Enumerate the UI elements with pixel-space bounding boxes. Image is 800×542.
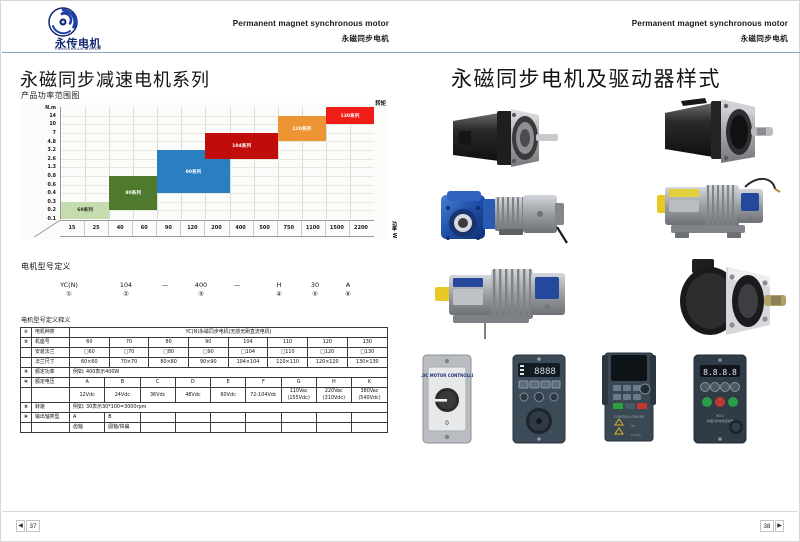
left-page-number[interactable]: 37 (26, 520, 40, 532)
model-code-index: ④ (261, 290, 297, 298)
spec-empty-cell (211, 423, 246, 433)
x-axis-separator (253, 221, 254, 236)
chart-caption: 产品功率范围图 (21, 90, 80, 101)
spec-voltage-code: H (316, 378, 351, 388)
y-axis-tick-label: 1.3 (48, 165, 57, 170)
spec-frame-value: 80 (149, 338, 189, 348)
spec-label: 输出轴类型 (32, 413, 70, 423)
spec-row-speed: ⑤转速例如: 30表示30*100=3000rpm (21, 403, 388, 413)
y-axis: N.m141074.83.22.61.30.80.60.40.30.20.1 (20, 107, 58, 219)
spec-flange-size-value: 80×80 (149, 358, 189, 368)
spec-voltage-code: B (105, 378, 140, 388)
spec-flange-value: □104 (228, 348, 268, 358)
y-axis-tick-label: 0.6 (48, 183, 57, 188)
y-axis-tick-label: 2.6 (48, 157, 57, 162)
page-footer: ◀ 37 38 ▶ (2, 511, 798, 541)
spec-index (21, 358, 32, 368)
chart-horizontal-gridline (61, 124, 374, 125)
spec-frame-value: 130 (347, 338, 387, 348)
x-axis-tick-label: 1100 (301, 225, 325, 231)
spec-voltage-code: D (175, 378, 210, 388)
spec-row-flange-size: 法兰尺寸60×6070×7080×8090×90104×104110×11012… (21, 358, 388, 368)
x-axis-tick-label: 1500 (325, 225, 349, 231)
spec-row-shaft-type: ⑥输出轴类型AB (21, 413, 388, 423)
y-axis-tick-label: 0.2 (48, 208, 57, 213)
x-axis-separator (349, 221, 350, 236)
chart-series-bar: 80系列 (109, 176, 157, 210)
spec-flange-size-value: 110×110 (268, 358, 308, 368)
x-axis-tick-label: 40 (108, 225, 132, 231)
spec-value: 例如: 400表示400W (70, 368, 388, 378)
right-page-content: 永磁同步电机及驱动器样式 (401, 53, 800, 513)
spec-empty-cell (175, 423, 210, 433)
spec-empty-cell (352, 423, 388, 433)
model-code-segment: — (147, 281, 183, 290)
company-logo: 永传电机 YONGCHUAN MOTOR (30, 7, 126, 51)
spec-label (32, 423, 70, 433)
spec-row-frame-no: ②机座号60708090104110120130 (21, 338, 388, 348)
spec-row-shaft-names: 齿轴圆轴/铁扁 (21, 423, 388, 433)
spec-frame-value: 90 (188, 338, 228, 348)
spec-flange-value: □60 (70, 348, 110, 358)
spec-flange-size-value: 90×90 (188, 358, 228, 368)
spec-voltage-value: 12Vdc (70, 388, 105, 403)
spec-value: YC(N)永磁同步电机(无感无刷直流电机) (70, 328, 388, 338)
x-axis-separator (156, 221, 157, 236)
black-round-flange-motor-photo (666, 253, 786, 341)
x-axis-tick-label: 90 (156, 225, 180, 231)
model-definition-title: 电机型号定义 (21, 261, 71, 272)
spec-voltage-code: K (352, 378, 388, 388)
spec-flange-value: □120 (307, 348, 347, 358)
swirl-logo-icon (48, 7, 78, 37)
header-chinese-title: 永磁同步电机 (342, 33, 389, 44)
spec-row-motor-type: ①电机种类YC(N)永磁同步电机(无感无刷直流电机) (21, 328, 388, 338)
spec-index: ① (21, 328, 32, 338)
spec-flange-size-value: 70×70 (109, 358, 149, 368)
logo-english-name: YONGCHUAN MOTOR (30, 47, 126, 51)
x-axis-separator (229, 221, 230, 236)
spec-label: 额定电压 (32, 378, 70, 388)
model-code-segment: A⑥ (330, 281, 366, 298)
svg-text:HD-S: HD-S (716, 414, 724, 418)
chart-horizontal-gridline (61, 193, 374, 194)
model-code-value: 30 (297, 281, 333, 289)
spec-flange-size-value: 104×104 (228, 358, 268, 368)
spec-empty-cell (140, 413, 175, 423)
model-code-value: H (261, 281, 297, 289)
y-axis-tick-label: 0.3 (48, 200, 57, 205)
prev-page-button[interactable]: ◀ (16, 520, 25, 532)
model-code-value: — (147, 281, 183, 289)
chart-plot-area: 60系列80系列90系列104系列120系列130系列 (60, 107, 374, 219)
y-axis-tick-label: 7 (53, 131, 56, 136)
left-pager[interactable]: ◀ 37 (16, 520, 40, 532)
model-code-value: — (219, 281, 255, 289)
model-code-index: ⑤ (297, 290, 333, 298)
left-page-header: 永传电机 YONGCHUAN MOTOR Permanent magnet sy… (2, 1, 401, 53)
model-code-segment: YC(N)① (51, 281, 87, 298)
spec-row-rated-voltage: ④额定电压ABCDEFGHK (21, 378, 388, 388)
spec-frame-value: 104 (228, 338, 268, 348)
spec-flange-value: □130 (347, 348, 387, 358)
spec-flange-value: □90 (188, 348, 228, 358)
model-code-segment: 30⑤ (297, 281, 333, 298)
svg-text:8.8.8.8: 8.8.8.8 (703, 368, 737, 377)
spec-label: 机座号 (32, 338, 70, 348)
y-axis-unit: N.m (45, 106, 56, 111)
spec-flange-value: □80 (149, 348, 189, 358)
right-page-header: Permanent magnet synchronous motor 永磁同步电… (401, 1, 800, 53)
spec-voltage-value: 24Vdc (105, 388, 140, 403)
spec-empty-cell (316, 413, 351, 423)
spec-value: 例如: 30表示30*100=3000rpm (70, 403, 388, 413)
page-title: 永磁同步减速电机系列 (20, 66, 210, 92)
spec-frame-value: 110 (268, 338, 308, 348)
spec-index: ③ (21, 368, 32, 378)
header-english-title-right: Permanent magnet synchronous motor (632, 19, 788, 28)
y-axis-tick-label: 4.8 (48, 140, 57, 145)
x-axis: 1525406090120200400500750110015002200 (60, 220, 374, 237)
model-code-segment: — (219, 281, 255, 290)
spec-index: ④ (21, 378, 32, 388)
model-code-row: YC(N)①104②—400③—H④30⑤A⑥ (21, 281, 381, 307)
svg-text:0: 0 (445, 420, 449, 427)
spec-row-rated-power: ③额定功率例如: 400表示400W (21, 368, 388, 378)
x-axis-tick-label: 750 (277, 225, 301, 231)
spec-flange-size-value: 120×120 (307, 358, 347, 368)
spec-label: 额定功率 (32, 368, 70, 378)
x-axis-tick-label: 2200 (349, 225, 373, 231)
x-axis-tick-label: 200 (204, 225, 228, 231)
y-axis-tick-label: 0.8 (48, 174, 57, 179)
spec-shaft-code: B (105, 413, 140, 423)
left-page-content: 永磁同步减速电机系列 产品功率范围图 转矩 N.m141074.83.22.61… (2, 53, 401, 513)
spec-empty-cell (281, 423, 316, 433)
x-axis-tick-label: 60 (132, 225, 156, 231)
model-code-segment: H④ (261, 281, 297, 298)
x-axis-separator (180, 221, 181, 236)
right-pager[interactable]: 38 ▶ (760, 520, 784, 532)
spec-empty-cell (352, 413, 388, 423)
x-axis-tick-label: 500 (253, 225, 277, 231)
x-axis-tick-label: 25 (84, 225, 108, 231)
model-code-segment: 400③ (183, 281, 219, 298)
spec-empty-cell (175, 413, 210, 423)
spec-empty-cell (281, 413, 316, 423)
model-code-index: ③ (183, 290, 219, 298)
spec-voltage-value: 60Vdc (211, 388, 246, 403)
svg-text:CONTROL DRIVER: CONTROL DRIVER (614, 415, 645, 419)
y-axis-tick-label: 0.4 (48, 191, 57, 196)
grey-foot-mount-gear-motor-photo (641, 175, 781, 255)
spec-label: 安装法兰 (32, 348, 70, 358)
spec-frame-value: 60 (70, 338, 110, 348)
spec-voltage-code: C (140, 378, 175, 388)
digital-speed-controller-photo[interactable]: 8888 (511, 353, 567, 445)
model-code-index: ① (51, 290, 87, 298)
spec-shaft-code: A (70, 413, 105, 423)
spec-voltage-value: 36Vdc (140, 388, 175, 403)
spec-voltage-value: 220Vac(310Vdc) (316, 388, 351, 403)
spec-label: 电机种类 (32, 328, 70, 338)
spec-voltage-value: 48Vdc (175, 388, 210, 403)
spec-empty-cell (316, 423, 351, 433)
svg-text:5.0min: 5.0min (631, 433, 642, 437)
spec-voltage-value: 110Vac(155Vdc) (281, 388, 316, 403)
chart-series-bar: 120系列 (278, 116, 326, 142)
svg-text:永磁同步电机驱动器: 永磁同步电机驱动器 (706, 418, 733, 423)
spec-index (21, 348, 32, 358)
spec-label: 法兰尺寸 (32, 358, 70, 368)
grey-inline-gear-motor-photo (429, 261, 579, 339)
y-axis-title: 转矩 (375, 99, 386, 107)
x-axis-separator (204, 221, 205, 236)
x-axis-separator (132, 221, 133, 236)
spec-label: 转速 (32, 403, 70, 413)
spec-voltage-code: A (70, 378, 105, 388)
right-page-title: 永磁同步电机及驱动器样式 (451, 63, 721, 93)
svg-text:BLDC MOTOR CONTROLLER: BLDC MOTOR CONTROLLER (421, 373, 473, 378)
specification-table: ①电机种类YC(N)永磁同步电机(无感无刷直流电机)②机座号6070809010… (20, 327, 388, 433)
x-axis-separator (277, 221, 278, 236)
y-axis-tick-label: 14 (49, 114, 56, 119)
spec-shaft-name: 齿轴 (70, 423, 105, 433)
spec-empty-cell (246, 423, 281, 433)
header-chinese-title-right: 永磁同步电机 (741, 33, 788, 44)
spec-frame-value: 120 (307, 338, 347, 348)
x-axis-separator (84, 221, 85, 236)
spec-shaft-name: 圆轴/铁扁 (105, 423, 140, 433)
spec-row-voltage-values: 12Vdc24Vdc36Vdc48Vdc60Vdc72-104Vdc110Vac… (21, 388, 388, 403)
model-code-value: A (330, 281, 366, 289)
y-axis-tick-label: 3.2 (48, 148, 57, 153)
spec-voltage-code: F (246, 378, 281, 388)
spec-empty-cell (140, 423, 175, 433)
x-axis-title: 功率 W (391, 221, 398, 238)
model-code-value: 104 (108, 281, 144, 289)
model-explanation-title: 电机型号定义释义 (21, 315, 71, 324)
right-page-number[interactable]: 38 (760, 520, 774, 532)
spec-row-mount-flange: 安装法兰□60□70□80□90□104□110□120□130 (21, 348, 388, 358)
spec-voltage-code: E (211, 378, 246, 388)
svg-text:8888: 8888 (534, 367, 556, 377)
spec-voltage-value: 380Vac(540Vdc) (352, 388, 388, 403)
chart-series-bar: 104系列 (205, 133, 277, 159)
chart-series-bar: 130系列 (326, 107, 374, 124)
x-axis-tick-label: 120 (180, 225, 204, 231)
page-spread: 永传电机 YONGCHUAN MOTOR Permanent magnet sy… (0, 0, 800, 542)
y-axis-tick-label: 10 (49, 122, 56, 127)
spec-index: ⑤ (21, 403, 32, 413)
spec-empty-cell (211, 413, 246, 423)
spec-index (21, 388, 32, 403)
model-code-value: 400 (183, 281, 219, 289)
spec-empty-cell (246, 413, 281, 423)
black-servo-motor-photo (651, 95, 775, 169)
next-page-button[interactable]: ▶ (775, 520, 784, 532)
x-axis-separator (325, 221, 326, 236)
x-axis-tick-label: 15 (60, 225, 84, 231)
model-code-index: ② (108, 290, 144, 298)
spec-index: ② (21, 338, 32, 348)
model-code-value: YC(N) (51, 281, 87, 289)
spec-label (32, 388, 70, 403)
model-code-segment: 104② (108, 281, 144, 298)
chart-series-bar: 60系列 (61, 202, 109, 219)
spec-voltage-value: 72-104Vdc (246, 388, 281, 403)
dc-motor-driver-keypad-photo[interactable]: 8.8.8.8 HD-S 永磁同步电机驱动器 (691, 353, 749, 445)
vfd-frequency-inverter-photo[interactable]: CONTROL DRIVER CE 5.0min (601, 349, 657, 445)
x-axis-separator (301, 221, 302, 236)
bldc-motor-controller-photo[interactable]: BLDC MOTOR CONTROLLER 0 (421, 353, 473, 445)
x-axis-separator (108, 221, 109, 236)
spec-flange-value: □110 (268, 348, 308, 358)
spec-flange-value: □70 (109, 348, 149, 358)
power-range-chart: 转矩 N.m141074.83.22.61.30.80.60.40.30.20.… (20, 103, 388, 239)
blue-worm-gear-reducer-photo (437, 181, 573, 249)
spec-flange-size-value: 130×130 (347, 358, 387, 368)
header-english-title: Permanent magnet synchronous motor (233, 19, 389, 28)
x-axis-tick-label: 400 (229, 225, 253, 231)
black-square-flange-motor-photo (441, 101, 561, 173)
spec-voltage-code: G (281, 378, 316, 388)
svg-text:CE: CE (631, 424, 635, 428)
spec-index: ⑥ (21, 413, 32, 423)
axis-corner-slash (34, 220, 60, 237)
spec-flange-size-value: 60×60 (70, 358, 110, 368)
spec-index (21, 423, 32, 433)
model-code-index: ⑥ (330, 290, 366, 298)
spec-frame-value: 70 (109, 338, 149, 348)
